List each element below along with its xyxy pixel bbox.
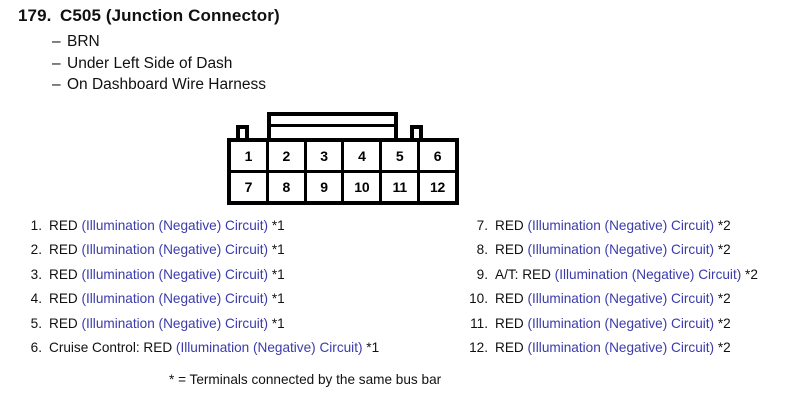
terminal-footnote-ref: *1 bbox=[363, 340, 380, 355]
terminal-list-right: 7. RED (Illumination (Negative) Circuit)… bbox=[464, 218, 758, 364]
terminal-circuit: (Illumination (Negative) Circuit) bbox=[81, 291, 268, 306]
connector-locator-bump-right bbox=[410, 125, 423, 139]
terminal-description: RED (Illumination (Negative) Circuit) *1 bbox=[49, 291, 285, 306]
terminal-description: RED (Illumination (Negative) Circuit) *1 bbox=[49, 242, 285, 257]
terminal-circuit: (Illumination (Negative) Circuit) bbox=[527, 242, 714, 257]
dash-icon: – bbox=[52, 31, 67, 53]
terminal-circuit: (Illumination (Negative) Circuit) bbox=[527, 340, 714, 355]
terminal-circuit: (Illumination (Negative) Circuit) bbox=[527, 291, 714, 306]
terminal-footnote-ref: *1 bbox=[268, 267, 285, 282]
list-item-label: On Dashboard Wire Harness bbox=[67, 76, 266, 93]
page-title: 179.C505 (Junction Connector) bbox=[18, 6, 280, 26]
connector-diagram: 1 2 3 4 5 6 7 8 9 10 11 12 bbox=[227, 112, 459, 205]
terminal-list-item: 5. RED (Illumination (Negative) Circuit)… bbox=[18, 316, 379, 340]
terminal-list-item: 11. RED (Illumination (Negative) Circuit… bbox=[464, 316, 758, 340]
terminal-cell-5[interactable]: 5 bbox=[379, 142, 417, 170]
terminal-footnote-ref: *1 bbox=[268, 218, 285, 233]
terminal-number: 8. bbox=[464, 242, 495, 257]
terminal-circuit: (Illumination (Negative) Circuit) bbox=[527, 316, 714, 331]
terminal-list-item: 7. RED (Illumination (Negative) Circuit)… bbox=[464, 218, 758, 242]
terminal-cell-8[interactable]: 8 bbox=[266, 173, 304, 201]
terminal-cell-11[interactable]: 11 bbox=[379, 173, 417, 201]
list-item: –On Dashboard Wire Harness bbox=[52, 74, 266, 96]
list-item: –BRN bbox=[52, 31, 266, 53]
terminal-description: RED (Illumination (Negative) Circuit) *1 bbox=[49, 267, 285, 282]
terminal-list-item: 10. RED (Illumination (Negative) Circuit… bbox=[464, 291, 758, 315]
terminal-wire-color: RED bbox=[495, 316, 527, 331]
list-item-label: BRN bbox=[67, 33, 100, 50]
terminal-number: 3. bbox=[18, 267, 49, 282]
terminal-description: RED (Illumination (Negative) Circuit) *2 bbox=[495, 316, 731, 331]
terminal-list-left: 1. RED (Illumination (Negative) Circuit)… bbox=[18, 218, 379, 364]
terminal-description: Cruise Control: RED (Illumination (Negat… bbox=[49, 340, 379, 355]
terminal-circuit: (Illumination (Negative) Circuit) bbox=[81, 316, 268, 331]
terminal-grid-row: 7 8 9 10 11 12 bbox=[231, 170, 455, 201]
terminal-cell-6[interactable]: 6 bbox=[417, 142, 455, 170]
terminal-cell-10[interactable]: 10 bbox=[341, 173, 379, 201]
terminal-footnote-ref: *1 bbox=[268, 316, 285, 331]
terminal-description: RED (Illumination (Negative) Circuit) *1 bbox=[49, 316, 285, 331]
connector-latch-tab bbox=[267, 112, 398, 139]
terminal-wire-color: RED bbox=[495, 340, 527, 355]
terminal-footnote-ref: *2 bbox=[714, 340, 731, 355]
terminal-wire-color: RED bbox=[49, 267, 81, 282]
terminal-number: 1. bbox=[18, 218, 49, 233]
terminal-number: 10. bbox=[464, 291, 495, 306]
terminal-wire-color: RED bbox=[495, 242, 527, 257]
terminal-list-item: 1. RED (Illumination (Negative) Circuit)… bbox=[18, 218, 379, 242]
terminal-wire-color: A/T: RED bbox=[495, 267, 555, 282]
terminal-cell-3[interactable]: 3 bbox=[304, 142, 342, 170]
terminal-footnote-ref: *2 bbox=[714, 242, 731, 257]
terminal-list-item: 9. A/T: RED (Illumination (Negative) Cir… bbox=[464, 267, 758, 291]
terminal-number: 4. bbox=[18, 291, 49, 306]
terminal-wire-color: RED bbox=[495, 218, 527, 233]
terminal-description: RED (Illumination (Negative) Circuit) *2 bbox=[495, 242, 731, 257]
terminal-description: RED (Illumination (Negative) Circuit) *1 bbox=[49, 218, 285, 233]
terminal-footnote-ref: *2 bbox=[741, 267, 758, 282]
terminal-list-item: 12. RED (Illumination (Negative) Circuit… bbox=[464, 340, 758, 364]
terminal-footnote-ref: *1 bbox=[268, 242, 285, 257]
terminal-footnote-ref: *2 bbox=[714, 291, 731, 306]
terminal-grid-row: 1 2 3 4 5 6 bbox=[231, 142, 455, 170]
connector-attributes-list: –BRN –Under Left Side of Dash –On Dashbo… bbox=[52, 31, 266, 96]
terminal-description: A/T: RED (Illumination (Negative) Circui… bbox=[495, 267, 758, 282]
terminal-list-item: 4. RED (Illumination (Negative) Circuit)… bbox=[18, 291, 379, 315]
terminal-circuit: (Illumination (Negative) Circuit) bbox=[527, 218, 714, 233]
terminal-grid: 1 2 3 4 5 6 7 8 9 10 11 12 bbox=[231, 142, 455, 201]
terminal-cell-2[interactable]: 2 bbox=[266, 142, 304, 170]
terminal-list-item: 6. Cruise Control: RED (Illumination (Ne… bbox=[18, 340, 379, 364]
terminal-wire-color: RED bbox=[49, 291, 81, 306]
terminal-circuit: (Illumination (Negative) Circuit) bbox=[555, 267, 742, 282]
terminal-cell-1[interactable]: 1 bbox=[231, 142, 266, 170]
dash-icon: – bbox=[52, 53, 67, 75]
terminal-circuit: (Illumination (Negative) Circuit) bbox=[81, 267, 268, 282]
terminal-footnote-ref: *2 bbox=[714, 316, 731, 331]
terminal-circuit: (Illumination (Negative) Circuit) bbox=[81, 218, 268, 233]
footnote: * = Terminals connected by the same bus … bbox=[169, 372, 441, 387]
terminal-cell-7[interactable]: 7 bbox=[231, 173, 266, 201]
terminal-number: 9. bbox=[464, 267, 495, 282]
connector-locator-bump-left bbox=[236, 125, 249, 139]
terminal-description: RED (Illumination (Negative) Circuit) *2 bbox=[495, 340, 731, 355]
terminal-wire-color: Cruise Control: RED bbox=[49, 340, 176, 355]
terminal-description: RED (Illumination (Negative) Circuit) *2 bbox=[495, 218, 731, 233]
list-item-label: Under Left Side of Dash bbox=[67, 55, 232, 72]
terminal-list-item: 3. RED (Illumination (Negative) Circuit)… bbox=[18, 267, 379, 291]
connector-body: 1 2 3 4 5 6 7 8 9 10 11 12 bbox=[227, 138, 459, 205]
terminal-wire-color: RED bbox=[495, 291, 527, 306]
terminal-description: RED (Illumination (Negative) Circuit) *2 bbox=[495, 291, 731, 306]
terminal-number: 2. bbox=[18, 242, 49, 257]
terminal-footnote-ref: *2 bbox=[714, 218, 731, 233]
terminal-cell-4[interactable]: 4 bbox=[341, 142, 379, 170]
terminal-circuit: (Illumination (Negative) Circuit) bbox=[176, 340, 363, 355]
dash-icon: – bbox=[52, 74, 67, 96]
terminal-wire-color: RED bbox=[49, 242, 81, 257]
page-title-number: 179. bbox=[18, 6, 60, 26]
latch-inner-line bbox=[271, 124, 394, 127]
terminal-wire-color: RED bbox=[49, 316, 81, 331]
terminal-circuit: (Illumination (Negative) Circuit) bbox=[81, 242, 268, 257]
terminal-number: 5. bbox=[18, 316, 49, 331]
terminal-cell-9[interactable]: 9 bbox=[304, 173, 342, 201]
terminal-number: 11. bbox=[464, 316, 495, 331]
terminal-wire-color: RED bbox=[49, 218, 81, 233]
list-item: –Under Left Side of Dash bbox=[52, 53, 266, 75]
terminal-list-item: 8. RED (Illumination (Negative) Circuit)… bbox=[464, 242, 758, 266]
terminal-number: 6. bbox=[18, 340, 49, 355]
page-title-text: C505 (Junction Connector) bbox=[60, 6, 280, 26]
terminal-list-item: 2. RED (Illumination (Negative) Circuit)… bbox=[18, 242, 379, 266]
terminal-number: 7. bbox=[464, 218, 495, 233]
terminal-footnote-ref: *1 bbox=[268, 291, 285, 306]
terminal-cell-12[interactable]: 12 bbox=[417, 173, 455, 201]
terminal-number: 12. bbox=[464, 340, 495, 355]
